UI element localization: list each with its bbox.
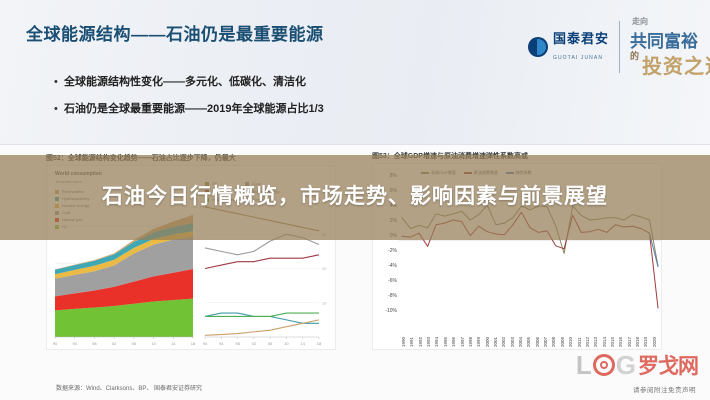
y-tick-label: -8% (375, 292, 397, 307)
line-series (205, 255, 319, 269)
x-tick-label: 10 (284, 341, 289, 346)
bullet-marker-icon: • (54, 75, 64, 89)
x-tick-label: 02 (252, 341, 257, 346)
x-tick-label: 2003 (510, 337, 515, 347)
x-tick-label: 2015 (610, 337, 615, 347)
watermark-letter-g: G (616, 352, 636, 378)
bullet-text: 石油仍是全球最重要能源——2019年全球能源占比1/3 (64, 102, 324, 116)
x-tick-label: 2011 (577, 337, 582, 347)
x-tick-label: 2017 (627, 337, 632, 347)
x-tick-label: 2004 (518, 337, 523, 347)
x-tick-label: 10 (151, 341, 156, 346)
bullet-text: 全球能源结构性变化——多元化、低碳化、清洁化 (64, 75, 306, 89)
x-tick-label: 98 (235, 341, 240, 346)
y-tick-label: -10% (375, 307, 397, 322)
x-tick-label: 90 (53, 341, 58, 346)
overlay-title: 石油今日行情概览，市场走势、影响因素与前景展望 (35, 183, 675, 211)
x-tick-label: 1998 (468, 337, 473, 347)
y-tick-label: -6% (375, 277, 397, 292)
watermark-text-cn: 罗戈网 (638, 350, 698, 380)
x-tick-label: 1990 (401, 337, 406, 347)
line-series (205, 313, 319, 323)
divider (619, 21, 620, 73)
list-item: • 全球能源结构性变化——多元化、低碳化、清洁化 (54, 75, 474, 89)
x-tick-label: 2005 (526, 337, 531, 347)
x-tick-label: 2018 (635, 337, 640, 347)
watermark-logo: L G 罗戈网 (576, 350, 698, 380)
brand-slogan: 走向 共同富裕 的 投资之道 (630, 16, 702, 78)
brand-name-cn: 国泰君安 (553, 31, 609, 46)
list-item: • 石油仍是全球最重要能源——2019年全球能源占比1/3 (54, 102, 474, 116)
x-tick-label: 2009 (560, 337, 565, 347)
x-tick-label: 90 (203, 341, 208, 346)
slogan-line-4: 投资之道 (642, 50, 710, 79)
x-tick-label: 2013 (593, 337, 598, 347)
screenshot-canvas: 全球能源结构——石油仍是最重要能源 • 全球能源结构性变化——多元化、低碳化、清… (0, 0, 710, 400)
x-tick-label: 2007 (543, 337, 548, 347)
x-tick-label: 2016 (618, 337, 623, 347)
x-tick-label: 94 (72, 341, 77, 346)
x-tick-label: 2020 (652, 337, 657, 347)
x-tick-label: 98 (92, 341, 97, 346)
x-tick-label: 18 (191, 341, 196, 346)
x-tick-label: 1995 (443, 337, 448, 347)
y-tick-label: 20 (322, 266, 327, 271)
brand-lockup: 国泰君安 GUOTAI JUNAN 走向 共同富裕 的 投资之道 (528, 12, 702, 82)
x-tick-label: 1993 (426, 337, 431, 347)
y-tick-label: -4% (375, 262, 397, 277)
y-tick-label: 10 (322, 300, 327, 305)
x-tick-label: 06 (132, 341, 137, 346)
x-tick-label: 1994 (434, 337, 439, 347)
x-tick-label: 1991 (409, 337, 414, 347)
x-tick-label: 14 (300, 341, 305, 346)
x-tick-label: 1992 (418, 337, 423, 347)
watermark-letter-l: L (576, 352, 592, 378)
slogan-line-1: 走向 (632, 16, 648, 27)
x-tick-label: 2014 (602, 337, 607, 347)
x-tick-label: 2001 (493, 337, 498, 347)
overlay-title-band: 石油今日行情概览，市场走势、影响因素与前景展望 (0, 155, 710, 240)
x-tick-label: 2010 (568, 337, 573, 347)
x-tick-label: 2002 (501, 337, 506, 347)
disclaimer-text: 请参阅附注免责声明 (633, 384, 696, 394)
bullet-list: • 全球能源结构性变化——多元化、低碳化、清洁化 • 石油仍是全球最重要能源——… (54, 75, 474, 129)
x-tick-label: 2000 (485, 337, 490, 347)
slide-energy-structure: 全球能源结构——石油仍是最重要能源 • 全球能源结构性变化——多元化、低碳化、清… (0, 0, 710, 145)
x-tick-label: 06 (268, 341, 273, 346)
slogan-line-3: 的 (630, 49, 639, 62)
source-note: 数据来源：Wind、Clarksons、BP、 国泰君安证券研究 (56, 383, 202, 392)
brand-mark: 国泰君安 GUOTAI JUNAN (528, 31, 609, 63)
x-tick-label: 2012 (585, 337, 590, 347)
x-tick-label: 18 (317, 341, 322, 346)
fig53-x-axis: 1990199119921993199419951996199719981999… (401, 337, 657, 347)
x-tick-label: 1997 (460, 337, 465, 347)
x-tick-label: 94 (219, 341, 224, 346)
x-tick-label: 14 (171, 341, 176, 346)
x-tick-label: 2006 (535, 337, 540, 347)
x-tick-label: 1996 (451, 337, 456, 347)
x-tick-label: 2019 (643, 337, 648, 347)
brand-name-en: GUOTAI JUNAN (553, 55, 603, 61)
page-title: 全球能源结构——石油仍是最重要能源 (26, 20, 324, 45)
x-tick-label: 02 (112, 341, 117, 346)
guotai-junan-logo-icon (528, 37, 548, 57)
slogan-line-2: 共同富裕 (630, 27, 698, 52)
target-ring-icon (593, 354, 615, 376)
bullet-marker-icon: • (54, 102, 64, 116)
line-series (205, 320, 319, 335)
x-tick-label: 1999 (476, 337, 481, 347)
brand-name-block: 国泰君安 GUOTAI JUNAN (553, 31, 609, 63)
y-tick-label: -2% (375, 247, 397, 262)
x-tick-label: 2008 (551, 337, 556, 347)
